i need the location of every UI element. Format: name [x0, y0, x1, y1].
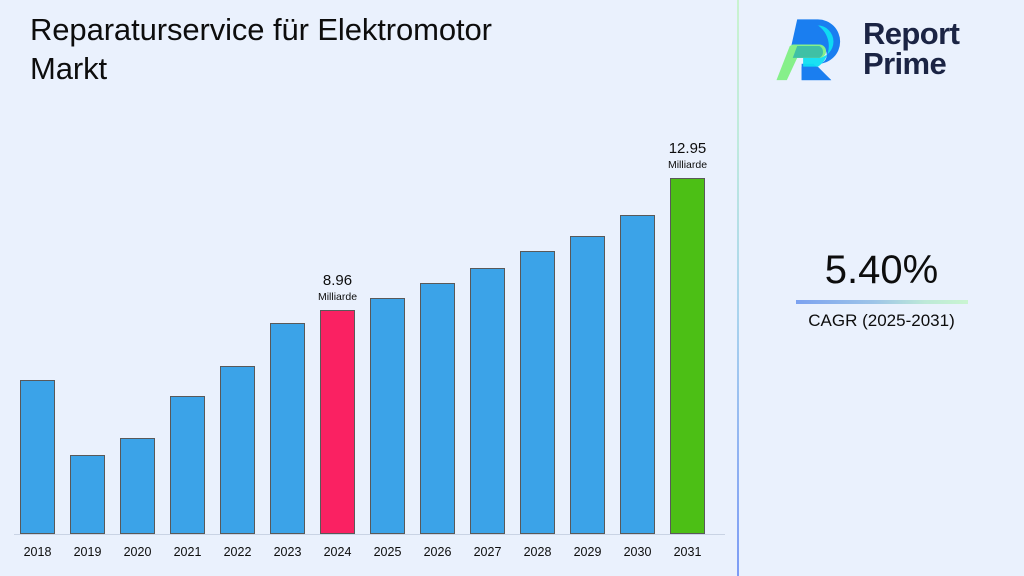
- x-tick-2028: 2028: [512, 546, 563, 559]
- bar-rect-2022[interactable]: [220, 366, 255, 534]
- brand-wordmark: Report Prime: [863, 19, 959, 80]
- cagr-block: 5.40% CAGR (2025-2031): [739, 248, 1024, 332]
- bar-rect-2025[interactable]: [370, 298, 405, 534]
- bar-value-label-2024: 8.96Milliarde: [318, 273, 357, 303]
- x-tick-2026: 2026: [412, 546, 463, 559]
- chart-panel: Reparaturservice für Elektromotor Markt …: [0, 0, 737, 576]
- bar-unit-2031: Milliarde: [668, 160, 707, 171]
- x-tick-2018: 2018: [12, 546, 63, 559]
- x-tick-2021: 2021: [162, 546, 213, 559]
- x-tick-2019: 2019: [62, 546, 113, 559]
- bar-2020[interactable]: [120, 438, 155, 534]
- x-tick-2023: 2023: [262, 546, 313, 559]
- bar-rect-2023[interactable]: [270, 323, 305, 534]
- bar-2027[interactable]: [470, 268, 505, 534]
- bar-2023[interactable]: [270, 323, 305, 534]
- x-tick-2027: 2027: [462, 546, 513, 559]
- x-tick-2024: 2024: [312, 546, 363, 559]
- cagr-value: 5.40%: [739, 248, 1024, 292]
- bar-2026[interactable]: [420, 283, 455, 534]
- bar-2030[interactable]: [620, 215, 655, 534]
- x-tick-2030: 2030: [612, 546, 663, 559]
- bar-rect-2031[interactable]: [670, 178, 705, 534]
- bar-rect-2020[interactable]: [120, 438, 155, 534]
- bar-2022[interactable]: [220, 366, 255, 534]
- bar-rect-2021[interactable]: [170, 396, 205, 534]
- bar-2029[interactable]: [570, 236, 605, 534]
- x-tick-2020: 2020: [112, 546, 163, 559]
- bar-value-label-2031: 12.95Milliarde: [668, 141, 707, 171]
- bar-2028[interactable]: [520, 251, 555, 534]
- x-tick-2025: 2025: [362, 546, 413, 559]
- x-tick-2031: 2031: [662, 546, 713, 559]
- bar-value-2031: 12.95: [668, 141, 707, 156]
- bar-2031[interactable]: 12.95Milliarde: [670, 178, 705, 534]
- side-panel: Report Prime 5.40% CAGR (2025-2031): [739, 0, 1024, 576]
- bar-2021[interactable]: [170, 396, 205, 534]
- screenshot-canvas: Reparaturservice für Elektromotor Markt …: [0, 0, 1024, 576]
- x-tick-2022: 2022: [212, 546, 263, 559]
- bar-chart-plot: 2018201920202021202220238.96Milliarde202…: [0, 0, 737, 576]
- bar-2018[interactable]: [20, 380, 55, 534]
- cagr-caption: CAGR (2025-2031): [739, 310, 1024, 332]
- bar-rect-2019[interactable]: [70, 455, 105, 534]
- bar-2025[interactable]: [370, 298, 405, 534]
- bar-rect-2026[interactable]: [420, 283, 455, 534]
- cagr-divider: [796, 300, 968, 304]
- bar-rect-2027[interactable]: [470, 268, 505, 534]
- bar-rect-2024[interactable]: [320, 310, 355, 534]
- bar-unit-2024: Milliarde: [318, 292, 357, 303]
- bar-2024[interactable]: 8.96Milliarde: [320, 310, 355, 534]
- x-tick-2029: 2029: [562, 546, 613, 559]
- bar-rect-2018[interactable]: [20, 380, 55, 534]
- bar-rect-2030[interactable]: [620, 215, 655, 534]
- bar-rect-2029[interactable]: [570, 236, 605, 534]
- bar-rect-2028[interactable]: [520, 251, 555, 534]
- bar-2019[interactable]: [70, 455, 105, 534]
- bar-value-2024: 8.96: [318, 273, 357, 288]
- report-prime-logo-icon: [775, 12, 849, 86]
- x-axis-line: [14, 534, 725, 535]
- brand-logo-block: Report Prime: [775, 12, 959, 86]
